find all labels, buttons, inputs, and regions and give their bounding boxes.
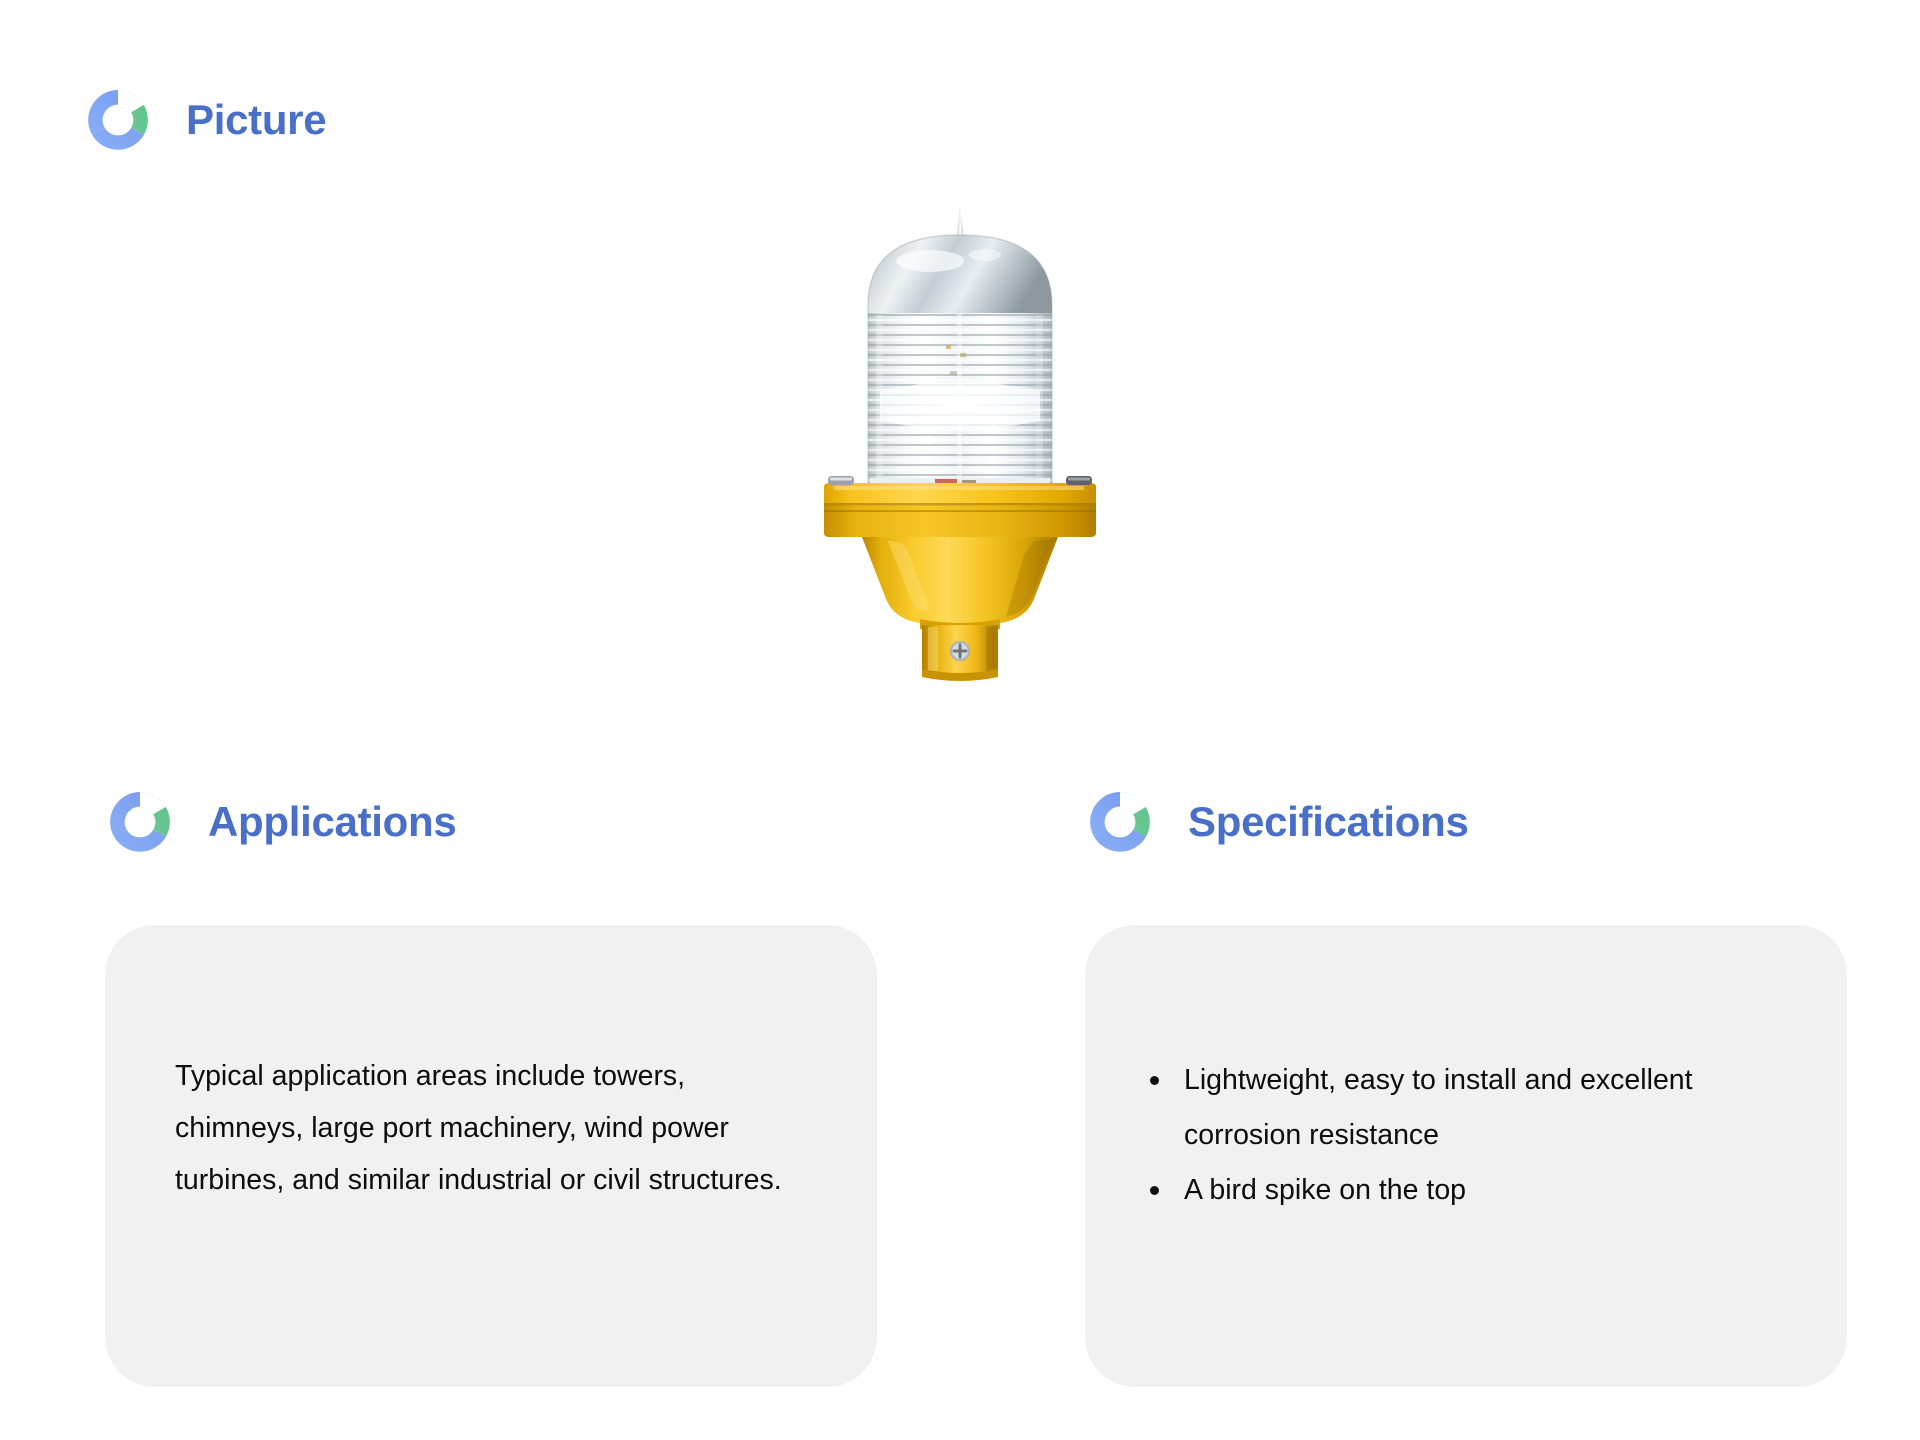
section-header-specifications: Specifications (1088, 790, 1469, 854)
list-item-label: Lightweight, easy to install and excelle… (1184, 1064, 1693, 1151)
section-title-applications: Applications (208, 801, 456, 843)
specifications-card: Lightweight, easy to install and excelle… (1085, 925, 1847, 1387)
applications-text: Typical application areas include towers… (175, 1050, 820, 1206)
c-ring-logo-icon (86, 88, 150, 152)
section-header-picture: Picture (86, 88, 326, 152)
applications-card-body: Typical application areas include towers… (175, 1050, 829, 1206)
specifications-card-body: Lightweight, easy to install and excelle… (1147, 1053, 1799, 1218)
c-ring-logo-icon (1088, 790, 1152, 854)
bullet-dot-icon (1150, 1186, 1159, 1195)
list-item-label: A bird spike on the top (1184, 1174, 1466, 1206)
applications-card: Typical application areas include towers… (105, 925, 877, 1387)
section-header-applications: Applications (108, 790, 456, 854)
c-ring-logo-icon (108, 790, 172, 854)
specifications-bullet-list: Lightweight, easy to install and excelle… (1147, 1053, 1799, 1218)
product-detail-page: Picture (0, 0, 1920, 1440)
aviation-obstruction-light-image (810, 195, 1110, 695)
section-title-specifications: Specifications (1188, 801, 1469, 843)
section-title-picture: Picture (186, 99, 326, 141)
product-image-stage (700, 195, 1220, 705)
bullet-dot-icon (1150, 1076, 1159, 1085)
list-item: A bird spike on the top (1147, 1163, 1767, 1218)
list-item: Lightweight, easy to install and excelle… (1147, 1053, 1767, 1163)
